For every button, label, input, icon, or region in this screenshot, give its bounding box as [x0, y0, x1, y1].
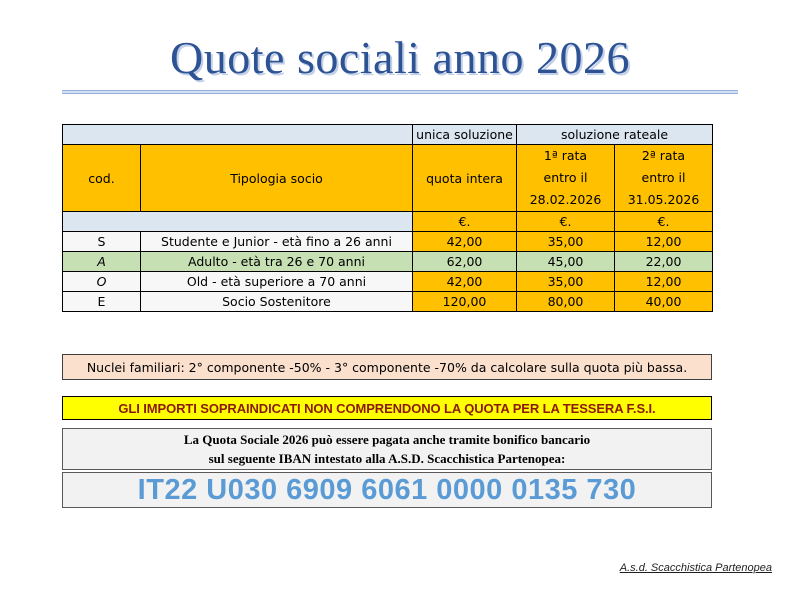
row-rata1: 80,00: [517, 292, 615, 312]
row-quota-intera: 62,00: [413, 252, 517, 272]
note-nuclei-familiari-text: Nuclei familiari: 2° componente -50% - 3…: [87, 360, 687, 375]
bonifico-line-2: sul seguente IBAN intestato alla A.S.D. …: [209, 449, 566, 468]
group-header-spacer: [63, 125, 413, 145]
currency-symbol-rata1: €.: [517, 212, 615, 232]
row-rata2: 22,00: [615, 252, 713, 272]
row-code: O: [63, 272, 141, 292]
currency-symbol-rata2: €.: [615, 212, 713, 232]
note-nuclei-familiari: Nuclei familiari: 2° componente -50% - 3…: [62, 354, 712, 380]
iban-display[interactable]: IT22 U030 6909 6061 0000 0135 730: [62, 472, 712, 508]
title-divider: [62, 90, 738, 94]
table-row: O Old - età superiore a 70 anni 42,00 35…: [63, 272, 713, 292]
table-row: E Socio Sostenitore 120,00 80,00 40,00: [63, 292, 713, 312]
row-rata2: 12,00: [615, 272, 713, 292]
row-code: S: [63, 232, 141, 252]
prima-rata-line-2: entro il: [517, 167, 614, 189]
membership-fees-table: unica soluzione soluzione rateale cod. T…: [62, 124, 713, 312]
row-code: A: [63, 252, 141, 272]
iban-number: IT22 U030 6909 6061 0000 0135 730: [138, 474, 637, 507]
table-row: S Studente e Junior - età fino a 26 anni…: [63, 232, 713, 252]
seconda-rata-line-3: 31.05.2026: [615, 189, 712, 211]
note-tessera-fsi: GLI IMPORTI SOPRAINDICATI NON COMPRENDON…: [62, 396, 712, 420]
seconda-rata-line-1: 2ª rata: [615, 145, 712, 167]
column-header-seconda-rata: 2ª rata entro il 31.05.2026: [615, 145, 713, 212]
note-bonifico-bancario: La Quota Sociale 2026 può essere pagata …: [62, 428, 712, 470]
row-quota-intera: 42,00: [413, 232, 517, 252]
column-header-tipologia-socio: Tipologia socio: [141, 145, 413, 212]
table-currency-row: €. €. €.: [63, 212, 713, 232]
table-row: A Adulto - età tra 26 e 70 anni 62,00 45…: [63, 252, 713, 272]
row-rata1: 35,00: [517, 272, 615, 292]
column-header-quota-intera: quota intera: [413, 145, 517, 212]
row-quota-intera: 42,00: [413, 272, 517, 292]
bonifico-line-1: La Quota Sociale 2026 può essere pagata …: [184, 430, 590, 449]
prima-rata-line-3: 28.02.2026: [517, 189, 614, 211]
row-code: E: [63, 292, 141, 312]
seconda-rata-line-2: entro il: [615, 167, 712, 189]
page-title: Quote sociali anno 2026: [0, 32, 800, 84]
column-header-cod: cod.: [63, 145, 141, 212]
prima-rata-line-1: 1ª rata: [517, 145, 614, 167]
row-rata2: 12,00: [615, 232, 713, 252]
table-column-header-row: cod. Tipologia socio quota intera 1ª rat…: [63, 145, 713, 212]
currency-symbol-quota: €.: [413, 212, 517, 232]
row-rata2: 40,00: [615, 292, 713, 312]
column-header-prima-rata: 1ª rata entro il 28.02.2026: [517, 145, 615, 212]
row-description: Old - età superiore a 70 anni: [141, 272, 413, 292]
currency-row-blank: [63, 212, 413, 232]
row-description: Studente e Junior - età fino a 26 anni: [141, 232, 413, 252]
row-description: Adulto - età tra 26 e 70 anni: [141, 252, 413, 272]
row-quota-intera: 120,00: [413, 292, 517, 312]
group-header-unica-soluzione: unica soluzione: [413, 125, 517, 145]
group-header-soluzione-rateale: soluzione rateale: [517, 125, 713, 145]
row-rata1: 45,00: [517, 252, 615, 272]
table-group-header-row: unica soluzione soluzione rateale: [63, 125, 713, 145]
footer-credit: A.s.d. Scacchistica Partenopea: [620, 562, 772, 574]
note-tessera-fsi-text: GLI IMPORTI SOPRAINDICATI NON COMPRENDON…: [118, 401, 655, 416]
row-rata1: 35,00: [517, 232, 615, 252]
row-description: Socio Sostenitore: [141, 292, 413, 312]
